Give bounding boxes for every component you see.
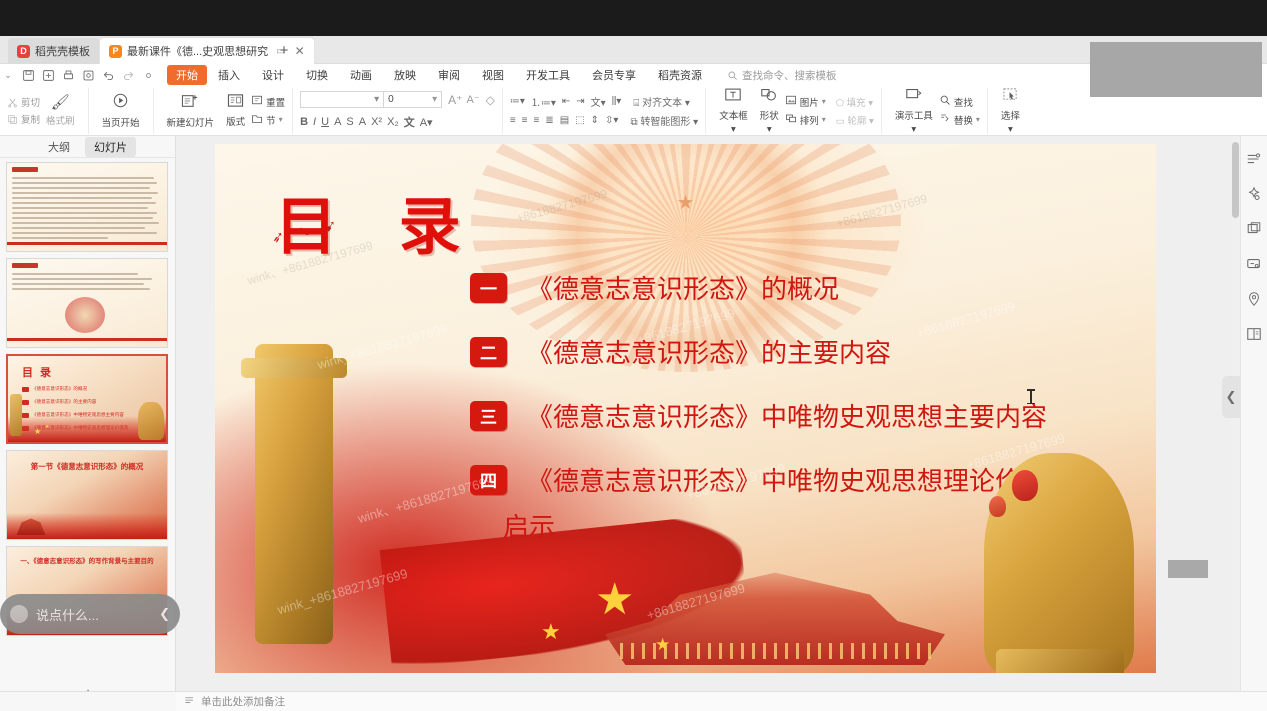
slide-editing-surface[interactable]: ★ ➶ ➴ ➹ 目 录 一 《德意志意识形态》的概况 二 《德意志意识形态》的主…	[215, 144, 1156, 673]
search-icon	[727, 70, 738, 81]
format-painter-button[interactable]: 🖌 格式刷	[40, 95, 81, 127]
text-color-button[interactable]: A	[359, 116, 366, 128]
redo-icon[interactable]	[122, 69, 135, 82]
textbox-label: 文本框	[719, 108, 748, 122]
align-vertical-button[interactable]: ⬚	[575, 115, 584, 126]
ribbon-toolbar: 剪切 复制 🖌 格式刷 当页开始	[0, 86, 1267, 136]
toc-badge: 三	[470, 401, 507, 431]
star-decoration: ★	[595, 574, 634, 625]
menu-bar: ⌄ 开始 插入	[0, 64, 1267, 86]
notes-placeholder: 单击此处添加备注	[201, 694, 285, 709]
star-decoration: ★	[655, 635, 670, 655]
toc-text: 《德意志意识形态》的主要内容	[527, 333, 891, 370]
bullets-button[interactable]: ≔▾	[510, 96, 525, 107]
voice-placeholder: 说点什么...	[36, 605, 151, 624]
font-controls: ▾ 0▾ A⁺ A⁻ ◇	[300, 91, 495, 108]
tab-developer[interactable]: 开发工具	[515, 65, 581, 85]
present-tool-label: 演示工具	[895, 108, 933, 122]
notes-icon	[184, 695, 195, 709]
tab-design[interactable]: 设计	[251, 65, 295, 85]
tab-transition[interactable]: 切换	[295, 65, 339, 85]
textbox-button[interactable]: 文本框▾	[713, 87, 754, 135]
search-icon	[939, 94, 951, 109]
chevron-down-icon[interactable]: ▾	[976, 115, 980, 124]
textbox-icon	[724, 87, 742, 106]
ribbon-group-clipboard: 剪切 复制 🖌 格式刷	[0, 88, 89, 134]
find-button[interactable]: 查找	[939, 94, 980, 109]
selection-pane-icon[interactable]	[1246, 220, 1263, 237]
right-task-rail	[1240, 136, 1267, 691]
toc-text: 《德意志意识形态》中唯物史观思想主要内容	[527, 397, 1047, 434]
slide-thumbnail-3[interactable]: 目 录 《德意志意识形态》的概况 《德意志意识形态》的主要内容 《德意志意识形态…	[6, 354, 168, 444]
section-icon	[251, 112, 263, 127]
subscript-button[interactable]: X₂	[387, 116, 399, 128]
fill-button[interactable]: ⬠ 填充 ▾	[836, 95, 873, 109]
tab-review[interactable]: 审阅	[427, 65, 471, 85]
toc-item[interactable]: 二 《德意志意识形态》的主要内容	[470, 333, 1130, 370]
thumb-item: 《德意志意识形态》的主要内容	[32, 399, 96, 405]
slide-canvas-area: ★ ➶ ➴ ➹ 目 录 一 《德意志意识形态》的概况 二 《德意志意识形态》的主…	[176, 136, 1240, 691]
print-icon[interactable]	[62, 69, 75, 82]
picture-button[interactable]: 图片 ▾ ⬠ 填充 ▾	[785, 94, 874, 109]
text-direction-button[interactable]: 文▾	[591, 94, 606, 109]
ribbon-group-slides: 新建幻灯片 版式 重置 节	[154, 88, 294, 134]
slide-thumbnail-4[interactable]: 第一节《德意志意识形态》的概况	[6, 450, 168, 540]
print-preview-icon[interactable]	[82, 69, 95, 82]
chevron-down-icon[interactable]: ⌄	[0, 70, 16, 81]
slide-frame: ★ ➶ ➴ ➹ 目 录 一 《德意志意识形态》的概况 二 《德意志意识形态》的主…	[215, 144, 1156, 673]
tab-home[interactable]: 开始	[167, 65, 207, 85]
justify-button[interactable]: ≣	[545, 115, 553, 126]
present-tool-button[interactable]: 演示工具▾	[889, 87, 939, 135]
underline-button[interactable]: U	[321, 116, 329, 128]
collapse-widget-icon[interactable]: ❮	[159, 606, 170, 622]
docer-icon: D	[17, 45, 30, 58]
shadow-button[interactable]: A	[334, 116, 341, 128]
customize-icon[interactable]	[142, 69, 155, 82]
chevron-down-icon[interactable]: ▾	[822, 115, 826, 124]
select-cursor-icon	[1002, 87, 1019, 106]
tab-animation[interactable]: 动画	[339, 65, 383, 85]
layout-pane-icon[interactable]	[1246, 325, 1263, 342]
toc-badge: 二	[470, 337, 507, 367]
font-name-input[interactable]: ▾	[300, 91, 384, 108]
fill-label: 填充	[847, 98, 866, 109]
ribbon-group-font: ▾ 0▾ A⁺ A⁻ ◇ B I U A S A X² X₂	[293, 88, 503, 134]
notes-bar[interactable]: 单击此处添加备注	[176, 691, 1267, 711]
save-as-icon[interactable]	[42, 69, 55, 82]
section-button[interactable]: 节 ▾	[251, 112, 285, 127]
screen-occlusion-overlay	[1168, 560, 1208, 578]
font-style-row: B I U A S A X² X₂ 文 A▾	[300, 114, 495, 130]
play-circle-icon	[112, 92, 129, 113]
thumb-star: ★	[45, 424, 49, 430]
tab-insert[interactable]: 插入	[207, 65, 251, 85]
ribbon-tabs: 开始 插入 设计 切换 动画 放映 审阅 视图 开发工具 会员专享 稻壳资源	[167, 65, 713, 85]
command-search[interactable]: 查找命令、搜索模板	[727, 68, 837, 83]
tab-slideshow[interactable]: 放映	[383, 65, 427, 85]
italic-button[interactable]: I	[313, 116, 316, 128]
align-center-button[interactable]: ≡	[522, 115, 528, 126]
location-icon[interactable]	[1246, 290, 1263, 307]
paintbrush-icon: 🖌	[51, 95, 70, 111]
thumb-accent-bar	[7, 242, 167, 245]
char-effect-button[interactable]: 文	[404, 114, 415, 130]
copy-label: 复制	[21, 112, 40, 126]
panel-footer	[0, 691, 176, 711]
thumb-item: 《德意志意识形态》的概况	[32, 386, 87, 392]
thumb-title: 目 录	[22, 364, 53, 380]
clear-format-icon[interactable]: ◇	[486, 93, 495, 107]
cut-label: 剪切	[21, 95, 40, 109]
grow-font-icon[interactable]: A⁺	[448, 93, 462, 107]
tab-view[interactable]: 视图	[471, 65, 515, 85]
format-painter-label: 格式刷	[46, 113, 75, 127]
document-tab-bar: D 稻壳壳模板 P 最新课件《德...史观思想研究 ▭ ✕ + 1 协作 会员专…	[0, 36, 1267, 64]
huabiao-pillar-decoration	[255, 344, 333, 644]
shrink-font-icon[interactable]: A⁻	[466, 93, 479, 106]
new-tab-button[interactable]: +	[274, 42, 294, 62]
thumb-heading	[12, 167, 38, 172]
slide-thumbnail-1[interactable]	[6, 162, 168, 252]
align-right-button[interactable]: ≡	[534, 115, 540, 126]
properties-icon[interactable]	[1246, 150, 1263, 167]
copy-icon	[7, 114, 18, 125]
wps-presentation-window: D 稻壳壳模板 P 最新课件《德...史观思想研究 ▭ ✕ + 1 协作 会员专…	[0, 0, 1267, 711]
quick-access-toolbar	[16, 69, 161, 82]
ribbon-group-tools: 演示工具▾ 查找 替换 ▾	[882, 88, 988, 134]
ribbon-group-drawing: 文本框▾ 形状▾ 图片 ▾ ⬠ 填充 ▾	[706, 88, 882, 134]
columns-button[interactable]: ⫼▾	[612, 96, 622, 107]
replace-icon	[939, 112, 951, 127]
present-tool-icon	[905, 87, 923, 106]
layout-button[interactable]: 版式	[220, 93, 251, 128]
scissors-icon	[7, 97, 18, 108]
stone-lion-decoration	[984, 453, 1134, 673]
paragraph-spacing-button[interactable]: ⇕	[591, 115, 599, 126]
thumb-section-title: 一、《德意志意识形态》的写作背景与主要目的	[15, 557, 159, 567]
picture-icon	[785, 94, 797, 109]
shape-button[interactable]: 形状▾	[754, 87, 785, 135]
start-label: 当页开始	[102, 115, 140, 129]
design-idea-icon[interactable]	[1246, 185, 1263, 202]
start-from-current-button[interactable]: 当页开始	[96, 92, 146, 129]
convert-smartart-button[interactable]: ⧉ 转智能图形 ▾	[630, 113, 698, 128]
microphone-icon[interactable]	[10, 605, 28, 623]
picture-label: 图片	[800, 95, 819, 109]
decrease-indent-button[interactable]: ⇤	[562, 96, 570, 107]
layout-icon	[227, 93, 244, 112]
section-label: 节	[266, 113, 276, 127]
thumb-ornament	[65, 297, 105, 333]
paragraph-row-1: ≔▾ ⒈≔▾ ⇤ ⇥ 文▾ ⫼▾ ⌸ 对齐文本 ▾	[510, 94, 698, 109]
superscript-button[interactable]: X²	[371, 116, 382, 128]
strikethrough-button[interactable]: S	[346, 116, 353, 128]
thumb-section-title: 第一节《德意志意识形态》的概况	[13, 461, 161, 472]
paragraph-row-2: ≡ ≡ ≡ ≣ ▤ ⬚ ⇕ ⇳▾ ⧉ 转智能图形 ▾	[510, 113, 698, 128]
window-title-strip	[0, 0, 1267, 36]
line-spacing-button[interactable]: ⇳▾	[605, 115, 618, 126]
reset-icon	[251, 94, 263, 109]
align-text-label: 对齐文本	[642, 98, 682, 109]
ribbon-group-paragraph: ≔▾ ⒈≔▾ ⇤ ⇥ 文▾ ⫼▾ ⌸ 对齐文本 ▾ ≡ ≡ ≡ ≣ ▤ ⬚ ⇕ …	[503, 88, 706, 134]
reset-button[interactable]: 重置	[251, 94, 285, 109]
layout-label: 版式	[226, 114, 245, 128]
lantern-decoration	[989, 496, 1006, 517]
thumb-pillar	[10, 394, 22, 436]
numbering-button[interactable]: ⒈≔▾	[531, 94, 556, 109]
font-size-input[interactable]: 0▾	[384, 91, 442, 108]
toc-text: 《德意志意识形态》的概况	[527, 269, 839, 306]
new-slide-icon	[181, 93, 199, 113]
ribbon-group-select: 选择▾	[988, 88, 1033, 134]
text-cursor	[1030, 389, 1032, 404]
chevron-down-icon[interactable]: ▾	[822, 97, 826, 106]
find-label: 查找	[954, 95, 973, 109]
tab-vip[interactable]: 会员专享	[581, 65, 647, 85]
navigator-tabs: 大纲 幻灯片	[0, 136, 175, 158]
select-button[interactable]: 选择▾	[995, 87, 1026, 135]
slide-thumbnail-2[interactable]	[6, 258, 168, 348]
outline-button[interactable]: ▭ 轮廓 ▾	[836, 113, 874, 127]
ribbon-group-start-show: 当页开始	[89, 88, 154, 134]
toc-badge: 一	[470, 273, 507, 303]
screen-occlusion-overlay	[1090, 42, 1262, 97]
tab-label: 最新课件《德...史观思想研究	[127, 43, 268, 59]
align-left-button[interactable]: ≡	[510, 115, 516, 126]
arrange-button[interactable]: 排列 ▾ ▭ 轮廓 ▾	[785, 112, 874, 127]
chevron-down-icon[interactable]: ▾	[279, 115, 283, 124]
tab-docer-resource[interactable]: 稻壳资源	[647, 65, 713, 85]
align-text-button[interactable]: ⌸ 对齐文本 ▾	[633, 94, 690, 109]
task-pane-toggle[interactable]: ❮	[1222, 376, 1240, 418]
bold-button[interactable]: B	[300, 116, 308, 128]
reset-label: 重置	[266, 95, 285, 109]
new-slide-label: 新建幻灯片	[167, 115, 215, 129]
cut-button[interactable]: 剪切	[7, 95, 40, 109]
shape-label: 形状	[760, 108, 779, 122]
undo-icon[interactable]	[102, 69, 115, 82]
voice-input-widget[interactable]: 说点什么... ❮	[0, 594, 180, 634]
scrollbar-thumb[interactable]	[1232, 142, 1239, 218]
lantern-decoration	[1012, 470, 1038, 501]
tab-outline[interactable]: 大纲	[39, 137, 79, 157]
thumb-accent-bar	[7, 338, 167, 341]
replace-label: 替换	[954, 113, 973, 127]
select-label: 选择	[1001, 108, 1020, 122]
copy-button[interactable]: 复制	[7, 112, 40, 126]
toc-text: 《德意志意识形态》中唯物史观思想理论价值及	[527, 461, 1073, 498]
tab-slides[interactable]: 幻灯片	[85, 137, 136, 157]
thumb-star: ★	[34, 427, 41, 436]
shape-format-icon[interactable]	[1246, 255, 1263, 272]
arrange-icon	[785, 112, 797, 127]
search-placeholder: 查找命令、搜索模板	[742, 68, 837, 83]
replace-button[interactable]: 替换 ▾	[939, 112, 980, 127]
star-decoration: ★	[677, 190, 695, 215]
save-icon[interactable]	[22, 69, 35, 82]
thumb-lion	[138, 402, 164, 440]
increase-indent-button[interactable]: ⇥	[576, 96, 584, 107]
star-decoration: ★	[541, 619, 561, 645]
highlight-color-button[interactable]: A▾	[420, 116, 433, 129]
new-slide-button[interactable]: 新建幻灯片	[161, 93, 221, 129]
shapes-icon	[760, 87, 778, 106]
tab-docer-template[interactable]: D 稻壳壳模板	[8, 38, 99, 64]
toc-badge: 四	[470, 465, 507, 495]
tab-label: 稻壳壳模板	[35, 43, 90, 59]
outline-label: 轮廓	[847, 116, 866, 127]
font-size-value: 0	[388, 94, 394, 105]
distribute-button[interactable]: ▤	[560, 115, 569, 126]
tab-close-icon[interactable]: ✕	[295, 44, 305, 58]
toc-item[interactable]: 一 《德意志意识形态》的概况	[470, 269, 1130, 306]
wps-ppt-icon: P	[109, 45, 122, 58]
arrange-label: 排列	[800, 113, 819, 127]
thumb-heading	[12, 263, 38, 268]
smartart-label: 转智能图形	[640, 117, 690, 128]
slide-title[interactable]: 目 录	[275, 176, 481, 266]
